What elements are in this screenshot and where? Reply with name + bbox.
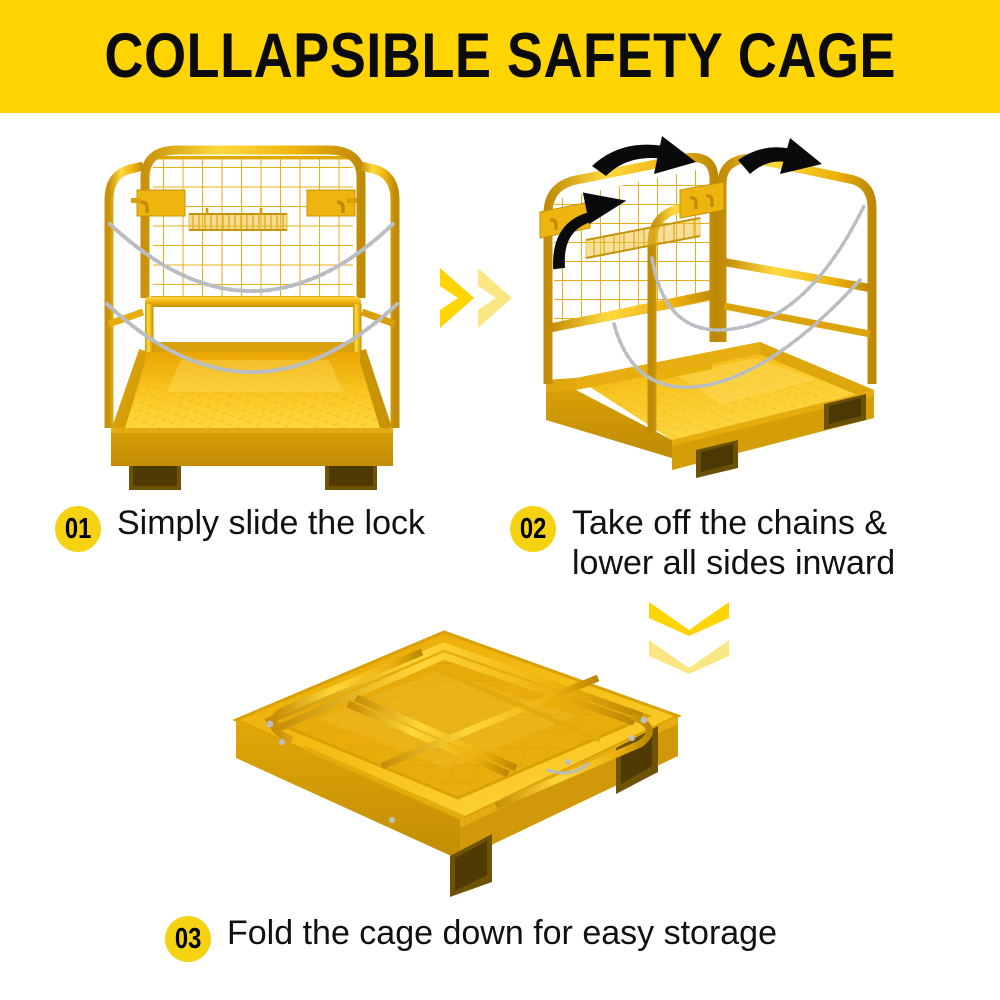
- step-badge-3: 03: [165, 916, 211, 962]
- double-chevron-right-icon: [438, 266, 514, 330]
- cage-assembled-front-view: [85, 128, 420, 490]
- step-text-1: Simply slide the lock: [117, 503, 425, 543]
- step-badge-1: 01: [55, 506, 101, 552]
- step-number-1: 01: [65, 515, 91, 544]
- step-caption-2: 02 Take off the chains & lower all sides…: [510, 503, 895, 583]
- chevron-right-solid: [438, 266, 476, 330]
- step-caption-3: 03 Fold the cage down for easy storage: [165, 913, 777, 962]
- step-text-2: Take off the chains & lower all sides in…: [572, 503, 895, 583]
- step-number-3: 03: [175, 925, 201, 954]
- slide-lock-plate-left: [131, 190, 185, 216]
- cage-folded-flat-view: [196, 612, 716, 897]
- step-number-2: 02: [520, 515, 546, 544]
- slide-lock-plate-right: [307, 190, 357, 216]
- fork-pockets: [129, 466, 377, 490]
- mid-rail: [145, 297, 361, 307]
- page-title: COLLAPSIBLE SAFETY CAGE: [104, 25, 896, 88]
- step-text-3: Fold the cage down for easy storage: [227, 913, 777, 953]
- cage-folding-perspective-view: [524, 128, 896, 500]
- header-banner: COLLAPSIBLE SAFETY CAGE: [0, 0, 1000, 113]
- step-badge-2: 02: [510, 506, 556, 552]
- step-caption-1: 01 Simply slide the lock: [55, 503, 425, 552]
- chevron-right-faded: [476, 266, 514, 330]
- base-skirt: [111, 428, 393, 466]
